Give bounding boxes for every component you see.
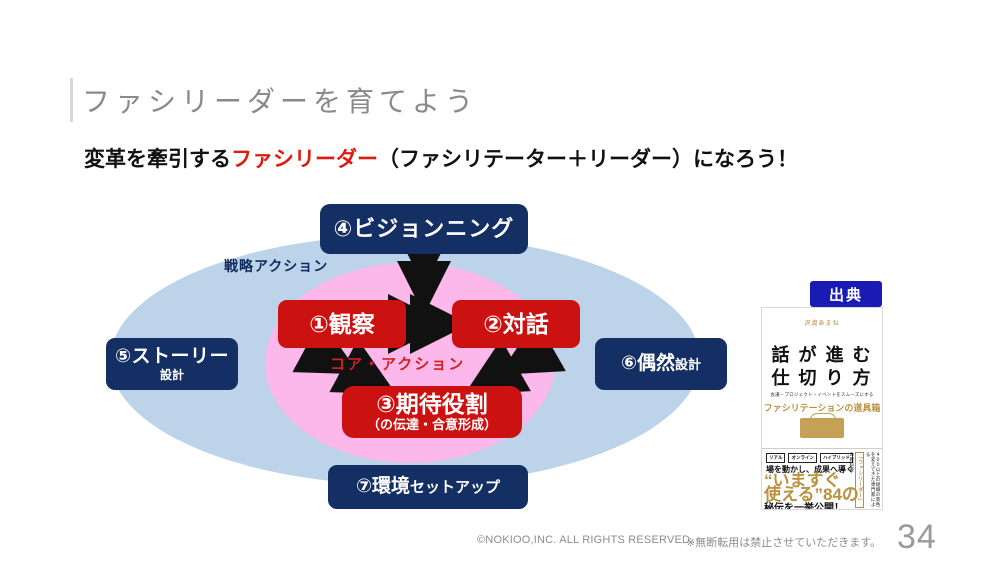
box-environment-sublabel: セットアップ	[410, 479, 500, 496]
slide-subtitle: 変革を牽引するファシリーダー（ファシリテーター＋リーダー）になろう！	[84, 143, 798, 173]
page-title: ファシリーダーを育てよう	[82, 80, 478, 120]
subtitle-tail: （ファシリテーター＋リーダー）になろう！	[378, 148, 798, 171]
subtitle-accent-term: ファシリーダー	[231, 148, 378, 171]
box-story-sublabel: 設計	[160, 369, 184, 383]
obi-tag-list: リアル オンライン ハイブリッド	[766, 453, 853, 463]
title-accent-rule	[70, 78, 73, 122]
box-serendipity-text: ⑥偶然設計	[621, 353, 701, 375]
strategy-action-label: 戦略アクション	[224, 256, 328, 276]
footer-note: ※無断転用は禁止させていただきます。	[686, 534, 881, 550]
book-obi-band: リアル オンライン ハイブリッド 場を動かし、成果へ導く “いますぐ 使える”8…	[762, 448, 882, 510]
diagram-box-serendipity[interactable]: ⑥偶然設計	[595, 338, 727, 390]
obi-vertical-boxed: 「ファシリーダー」	[855, 452, 865, 508]
subtitle-lead: 変革を牽引する	[84, 148, 231, 171]
book-title-line2: 仕 切 り 方	[762, 364, 882, 390]
box-visioning-label: ④ビジョンニング	[334, 216, 515, 241]
box-story-label: ⑤ストーリー	[115, 346, 229, 368]
box-observation-label: ①観察	[309, 311, 374, 337]
book-tagline: 会議・プロジェクト・イベントをスムーズにする	[762, 392, 882, 398]
obi-tag: オンライン	[788, 453, 817, 463]
box-expected-role-sublabel: （の伝達・合意形成）	[367, 418, 497, 433]
slide-canvas: ファシリーダーを育てよう 変革を牽引するファシリーダー（ファシリテーター＋リーダ…	[0, 0, 1000, 563]
box-environment-label: ⑦環境	[356, 476, 410, 498]
facilireader-diagram: 戦略アクション コア・アクション ④ビジョンニング ①観察 ②対話 ③期待役割 …	[90, 190, 720, 520]
diagram-box-observation[interactable]: ①観察	[278, 300, 406, 348]
diagram-box-dialogue[interactable]: ②対話	[452, 300, 580, 348]
obi-line-4: 秘伝を一挙公開！	[764, 499, 844, 510]
book-cover-front: 沢渡あまね 話 が 進 む 仕 切 り 方 会議・プロジェクト・イベントをスムー…	[762, 308, 882, 448]
box-serendipity-label: ⑥偶然	[621, 353, 675, 375]
obi-vertical-text-group: ４００以上の組織の景色を変えてきた専門家による 「ファシリーダー」 の教科書	[849, 452, 880, 508]
book-cover-image: 沢渡あまね 話 が 進 む 仕 切 り 方 会議・プロジェクト・イベントをスムー…	[761, 307, 883, 510]
obi-vertical-mid: の教科書	[849, 452, 854, 508]
source-badge: 出典	[810, 281, 882, 307]
box-expected-role-label: ③期待役割	[376, 391, 487, 417]
diagram-box-visioning[interactable]: ④ビジョンニング	[320, 204, 528, 254]
core-action-label: コア・アクション	[330, 353, 465, 374]
book-author: 沢渡あまね	[762, 318, 882, 327]
diagram-box-environment[interactable]: ⑦環境セットアップ	[328, 465, 528, 509]
diagram-box-story[interactable]: ⑤ストーリー 設計	[106, 338, 238, 390]
diagram-box-expected-role[interactable]: ③期待役割 （の伝達・合意形成）	[342, 386, 522, 438]
box-dialogue-label: ②対話	[483, 311, 548, 337]
obi-tag: リアル	[766, 453, 785, 463]
box-serendipity-sublabel: 設計	[675, 358, 701, 373]
obi-vertical-right: ４００以上の組織の景色を変えてきた専門家による	[865, 452, 880, 508]
footer-copyright: ©NOKIOO,INC. ALL RIGHTS RESERVED.	[477, 534, 693, 546]
toolbox-illustration	[800, 418, 844, 438]
page-number: 34	[897, 518, 937, 557]
box-environment-text: ⑦環境セットアップ	[356, 476, 500, 498]
